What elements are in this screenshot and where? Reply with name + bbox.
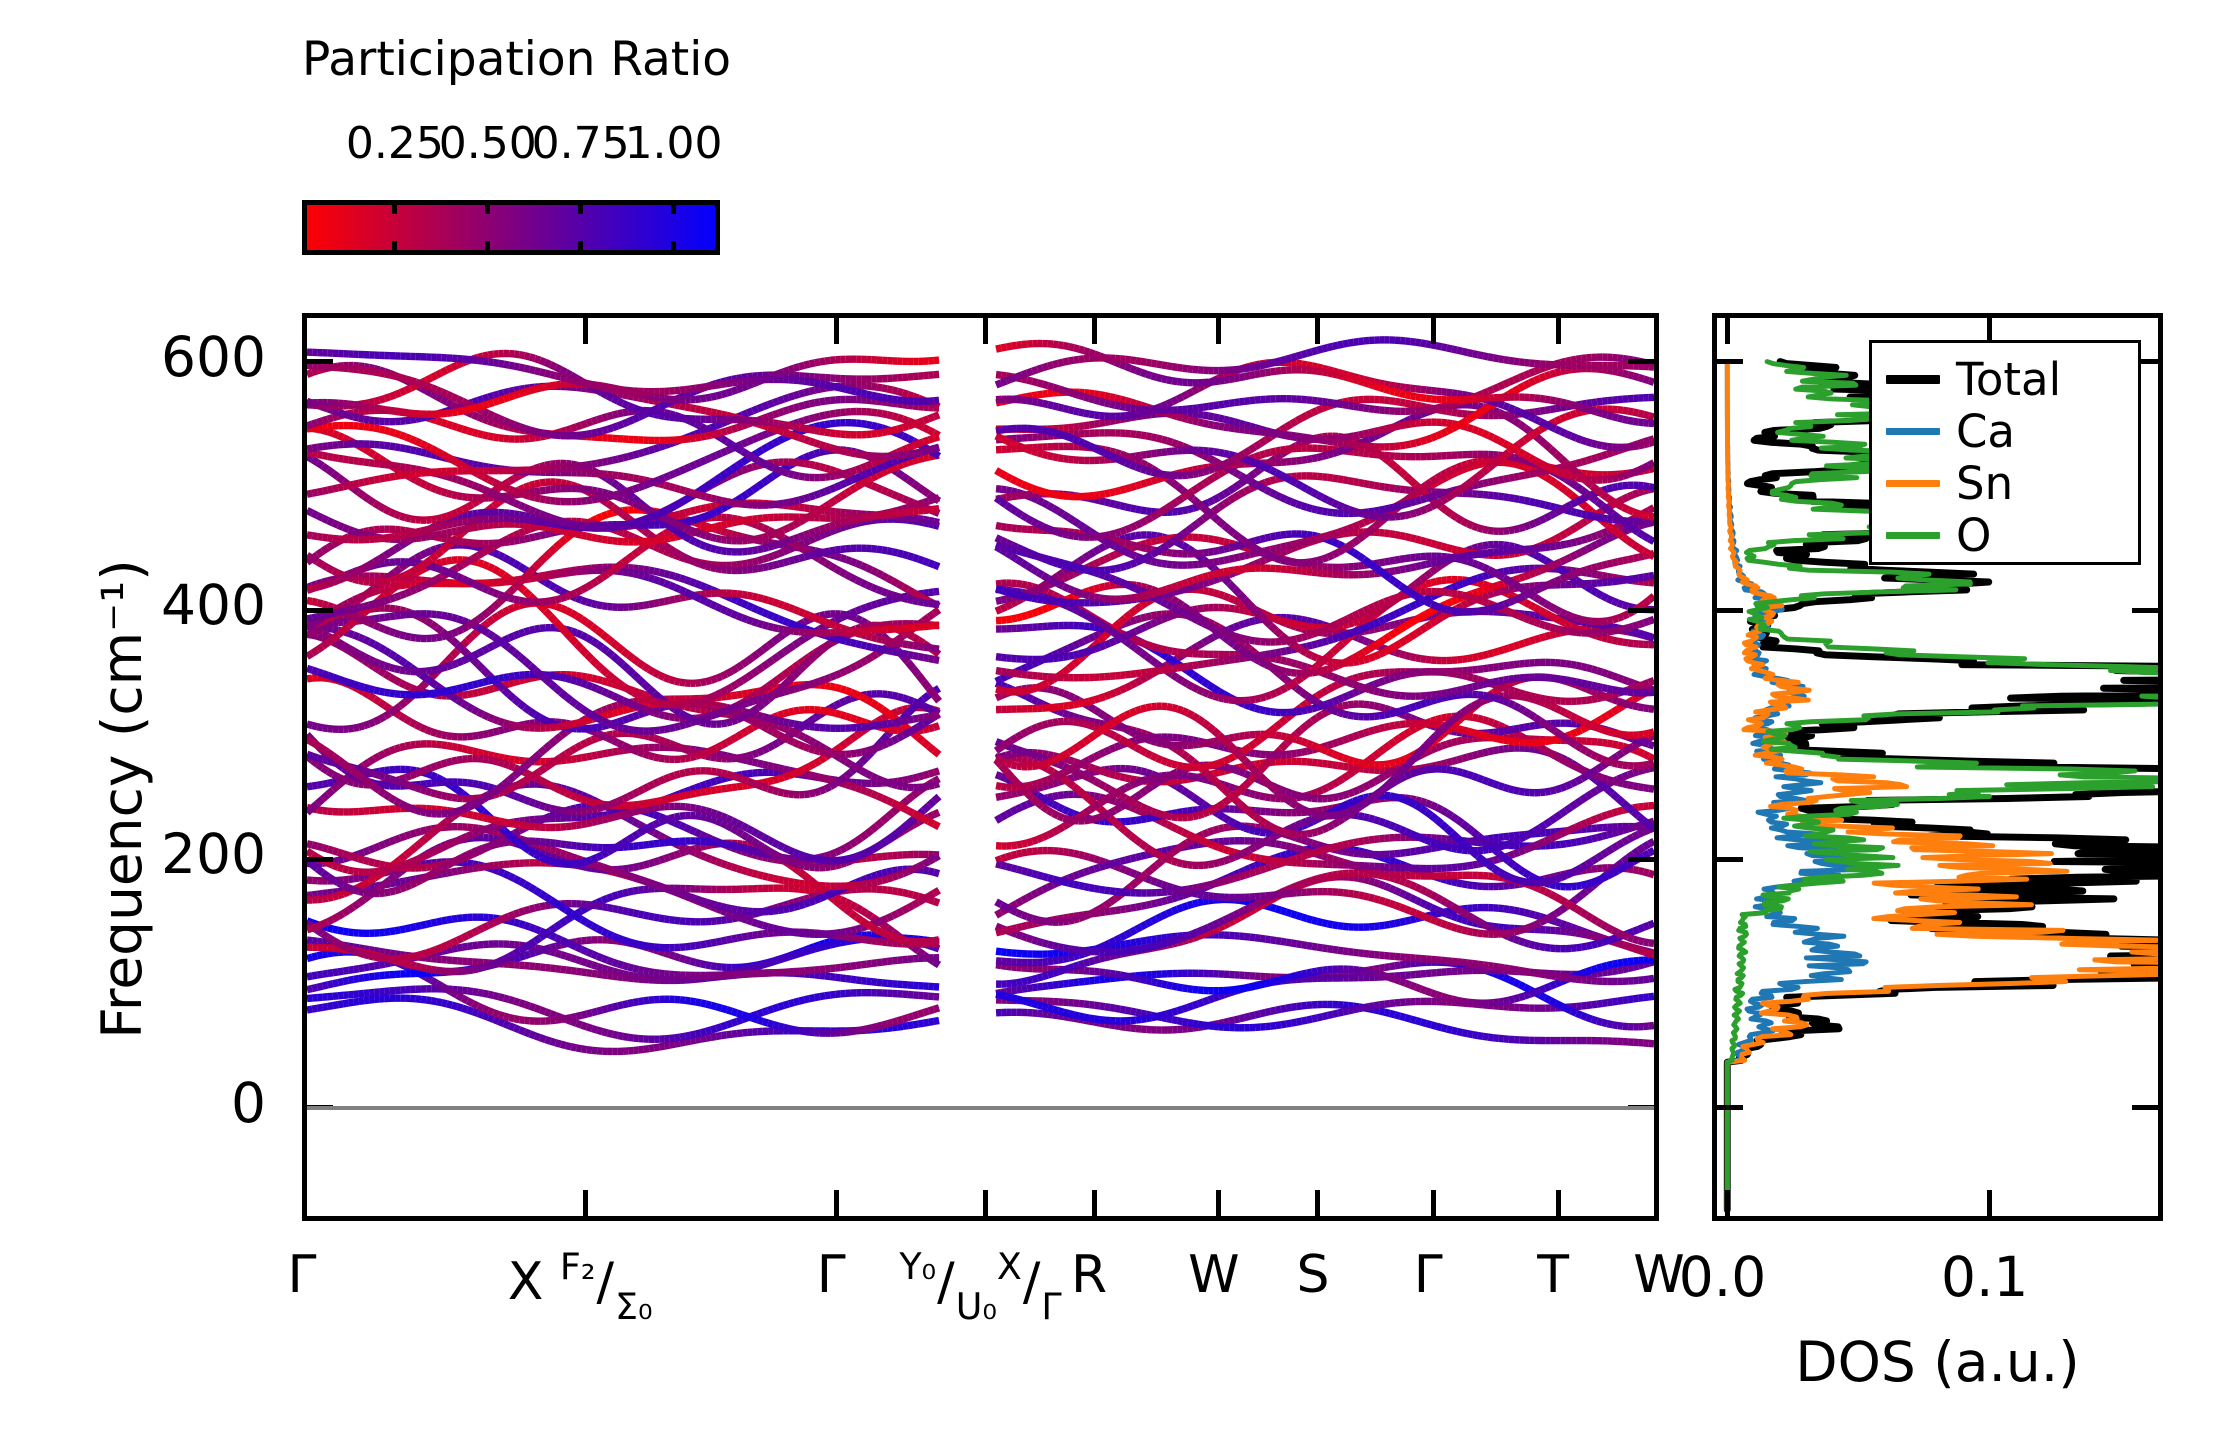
legend-row-ca: Ca	[1872, 405, 2138, 457]
colorbar-tick-label-3: 1.00	[625, 118, 723, 169]
y-tick-400	[1628, 608, 1654, 613]
dos-tick-0	[1725, 1190, 1730, 1216]
k-tick-3	[983, 1190, 988, 1216]
legend-swatch-total	[1886, 375, 1940, 384]
k-tick-6	[1315, 318, 1320, 344]
kpoint-label-6: S	[1296, 1245, 1329, 1305]
y-tick-600	[1628, 359, 1654, 364]
k-tick-2	[834, 1190, 839, 1216]
y-tick-label-0: 0	[231, 1071, 266, 1135]
dos-tick-1	[1987, 1190, 1992, 1216]
kpoint-label-0: Γ	[288, 1245, 317, 1305]
y-tick-400	[2132, 608, 2158, 613]
band-structure-axes	[302, 313, 1659, 1221]
y-tick-200	[307, 857, 333, 862]
y-tick-200	[1717, 857, 1743, 862]
band-structure-plot	[307, 318, 1654, 1216]
k-tick-8	[1556, 1190, 1561, 1216]
kpoint-label-1: X F₂/Σ₀	[508, 1245, 653, 1328]
colorbar-tick-1	[485, 200, 490, 214]
y-tick-0	[1717, 1105, 1743, 1110]
kpoint-label-2: Γ	[817, 1245, 846, 1305]
y-tick-600	[1717, 359, 1743, 364]
colorbar-tick-2	[578, 200, 583, 214]
k-tick-3	[983, 318, 988, 344]
dos-curve-ca	[1727, 362, 1866, 1210]
k-tick-2	[834, 318, 839, 344]
y-tick-400	[1717, 608, 1743, 613]
k-tick-5	[1216, 318, 1221, 344]
y-axis-title: Frequency (cm⁻¹)	[90, 449, 154, 1149]
k-tick-5	[1216, 1190, 1221, 1216]
y-axis-title-text: Frequency (cm⁻¹)	[90, 559, 154, 1038]
dos-axis-title: DOS (a.u.)	[1712, 1330, 2163, 1394]
legend-label-total: Total	[1956, 357, 2061, 402]
y-tick-label-400: 400	[161, 573, 266, 637]
colorbar-tick-label-2: 0.75	[532, 118, 630, 169]
kpoint-label-5: W	[1188, 1245, 1239, 1305]
kpoint-label-9: W	[1633, 1245, 1684, 1305]
phonon-figure: Participation Ratio 0.250.500.751.00 Tot…	[0, 0, 2222, 1455]
colorbar-tick-labels: 0.250.500.751.00	[0, 118, 1000, 178]
y-tick-200	[2132, 857, 2158, 862]
colorbar-gradient	[302, 200, 720, 255]
kpoint-label-3: Y₀/U₀X/Γ	[899, 1245, 1061, 1328]
legend-swatch-sn	[1886, 480, 1940, 487]
y-tick-label-200: 200	[161, 822, 266, 886]
y-tick-600	[307, 359, 333, 364]
k-tick-6	[1315, 1190, 1320, 1216]
k-tick-4	[1092, 318, 1097, 344]
colorbar-tick-3	[671, 241, 676, 255]
colorbar-tick-2	[578, 241, 583, 255]
k-tick-1	[583, 318, 588, 344]
legend-swatch-o	[1886, 532, 1940, 539]
colorbar-tick-label-0: 0.25	[346, 118, 444, 169]
legend-row-o: O	[1872, 509, 2138, 561]
k-tick-8	[1556, 318, 1561, 344]
colorbar-title: Participation Ratio	[302, 35, 720, 84]
colorbar-tick-1	[485, 241, 490, 255]
legend-label-o: O	[1956, 513, 1991, 558]
dos-tick-label-0: 0.0	[1679, 1245, 1766, 1309]
dos-axis-title-text: DOS (a.u.)	[1795, 1330, 2079, 1394]
kpoint-label-8: T	[1537, 1245, 1569, 1305]
kpoint-label-4: R	[1071, 1245, 1107, 1305]
dos-legend: TotalCaSnO	[1869, 340, 2141, 565]
legend-row-total: Total	[1872, 353, 2138, 405]
y-tick-label-600: 600	[161, 325, 266, 389]
dos-tick-label-1: 0.1	[1941, 1245, 2028, 1309]
legend-label-ca: Ca	[1956, 409, 2015, 454]
k-tick-7	[1431, 318, 1436, 344]
y-tick-400	[307, 608, 333, 613]
colorbar-tick-label-1: 0.50	[439, 118, 537, 169]
dos-tick-0	[1725, 318, 1730, 344]
colorbar-tick-0	[392, 241, 397, 255]
participation-ratio-colorbar	[302, 200, 720, 255]
y-tick-200	[1628, 857, 1654, 862]
legend-row-sn: Sn	[1872, 457, 2138, 509]
k-tick-1	[583, 1190, 588, 1216]
colorbar-tick-0	[392, 200, 397, 214]
phonon-branch-3	[307, 998, 1654, 1051]
k-tick-4	[1092, 1190, 1097, 1216]
y-tick-0	[2132, 1105, 2158, 1110]
legend-swatch-ca	[1886, 428, 1940, 435]
k-tick-7	[1431, 1190, 1436, 1216]
legend-label-sn: Sn	[1956, 461, 2013, 506]
zero-frequency-line	[307, 1106, 1654, 1110]
kpoint-label-7: Γ	[1414, 1245, 1443, 1305]
colorbar-tick-3	[671, 200, 676, 214]
